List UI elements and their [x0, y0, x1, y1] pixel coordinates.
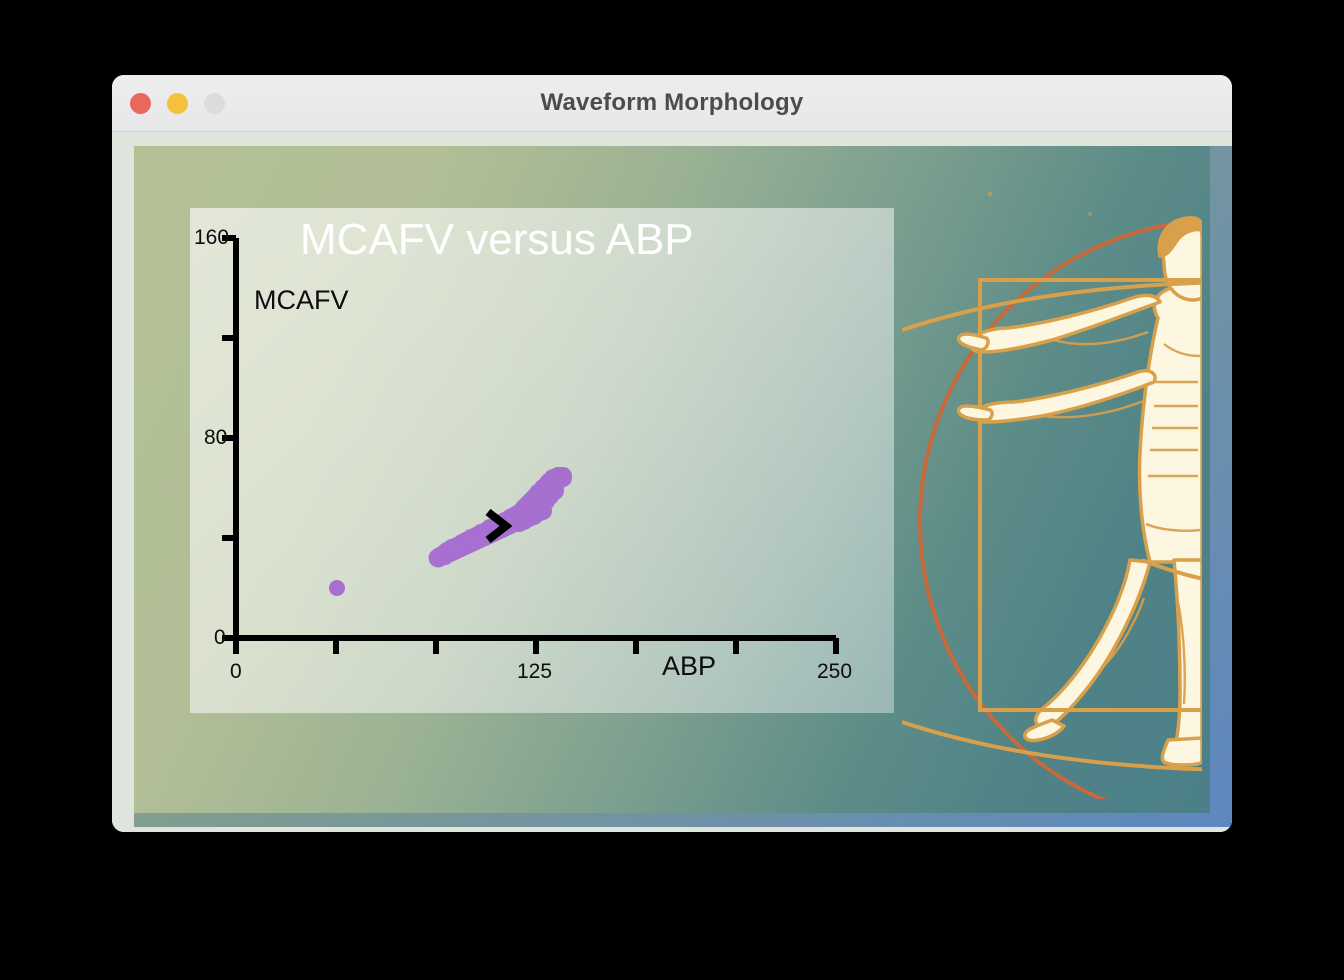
x-tick-label-250: 250 [817, 660, 852, 684]
window-titlebar: Waveform Morphology [112, 75, 1232, 132]
chart-title: MCAFV versus ABP [300, 214, 694, 267]
vitruvian-man-illustration [902, 132, 1232, 799]
chart-panel: MCAFV versus ABP MCAFV ABP 160 80 0 0 12… [190, 208, 894, 713]
app-window: Waveform Morphology [112, 75, 1232, 832]
y-tick-label-0: 0 [214, 626, 226, 650]
window-title: Waveform Morphology [112, 89, 1232, 117]
y-axis-label: MCAFV [254, 285, 349, 316]
x-tick-label-125: 125 [517, 660, 552, 684]
x-axis-label: ABP [662, 651, 716, 682]
window-content: MCAFV versus ABP MCAFV ABP 160 80 0 0 12… [112, 132, 1232, 832]
screen: Waveform Morphology [0, 0, 1344, 980]
y-tick-label-80: 80 [204, 426, 227, 450]
x-tick-label-0: 0 [230, 660, 242, 684]
data-points [431, 467, 572, 565]
vitruvian-man-svg [902, 132, 1232, 799]
outlier-point [329, 580, 345, 596]
y-tick-label-160: 160 [194, 226, 229, 250]
scatter-plot [190, 208, 894, 713]
